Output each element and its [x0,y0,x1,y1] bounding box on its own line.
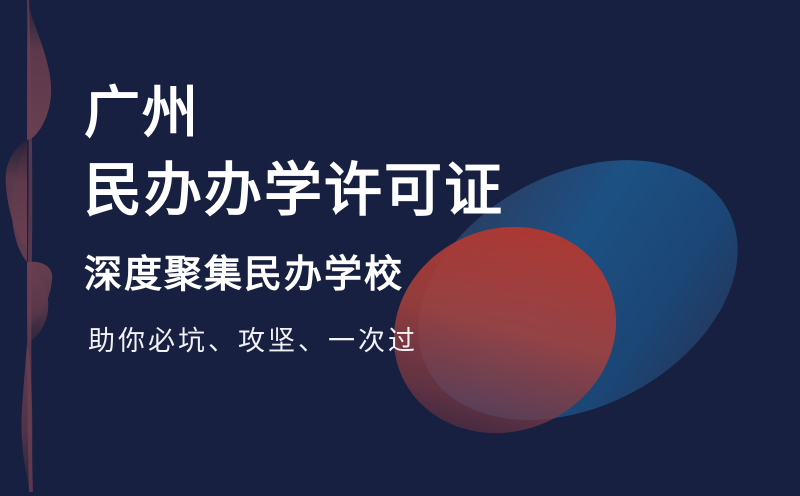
page-title-main: 民办办学许可证 [84,162,504,220]
page-title-city: 广州 [84,86,200,142]
promo-banner: 广州 民办办学许可证 深度聚集民办学校 助你必坑、攻坚、一次过 [0,0,800,496]
subtitle-secondary: 助你必坑、攻坚、一次过 [88,328,418,355]
subtitle-primary: 深度聚集民办学校 [84,256,404,294]
banner-text-layer: 广州 民办办学许可证 深度聚集民办学校 助你必坑、攻坚、一次过 [0,0,800,496]
